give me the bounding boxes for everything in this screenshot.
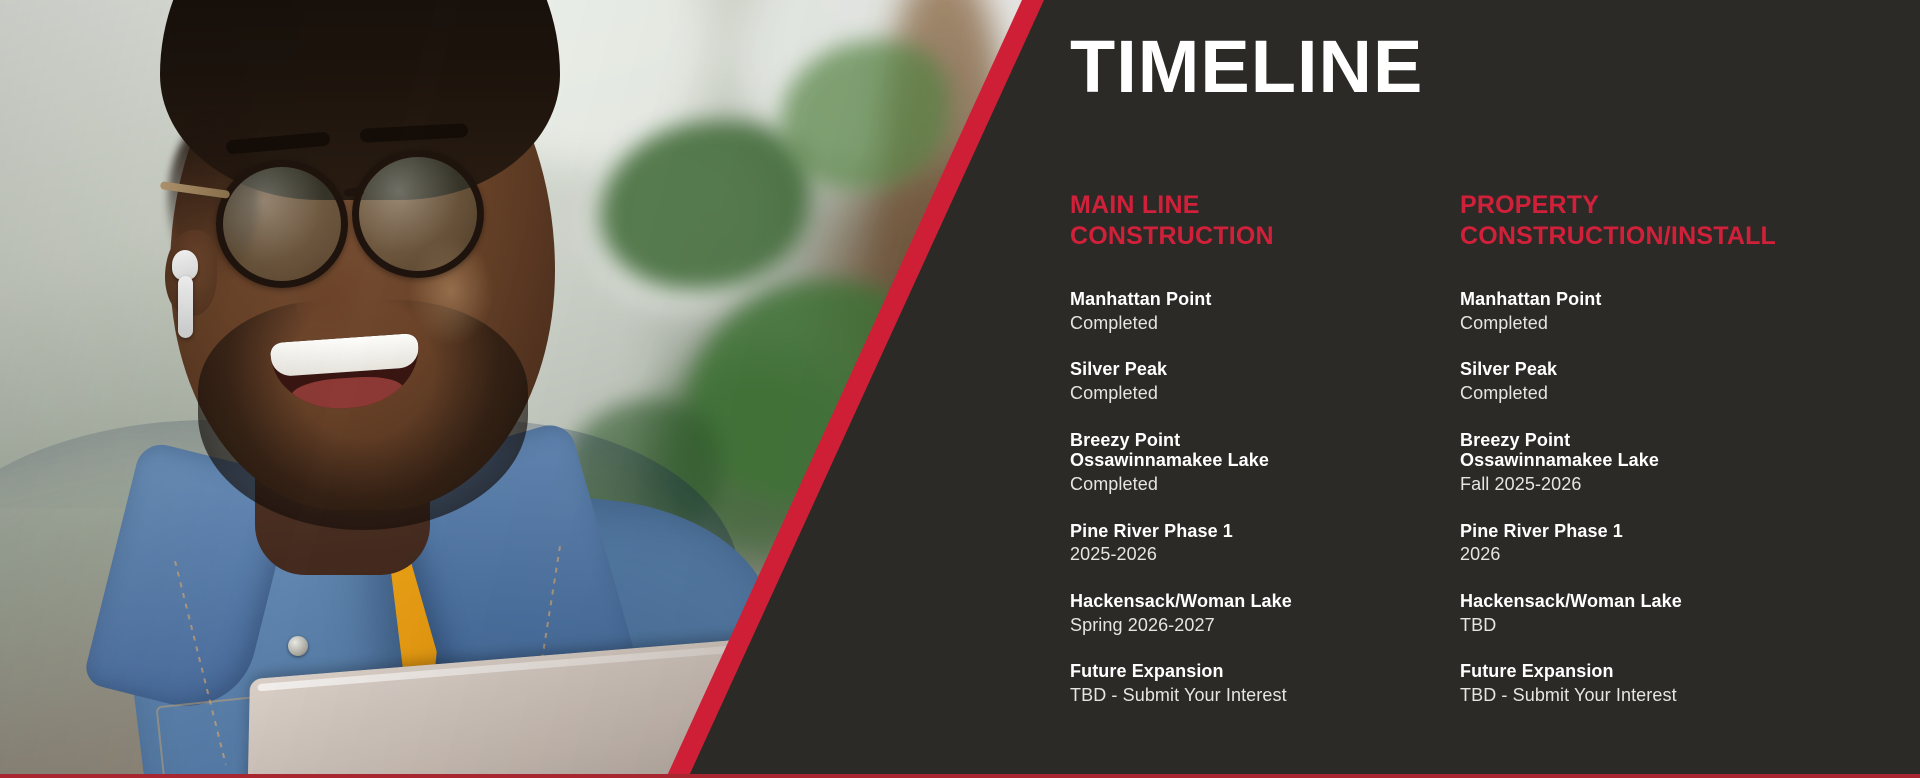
item-name: Future Expansion (1070, 661, 1460, 682)
column-property-construction-install: PROPERTY CONSTRUCTION/INSTALL Manhattan … (1460, 190, 1920, 706)
list-item: Future Expansion TBD - Submit Your Inter… (1460, 661, 1920, 706)
item-status: Spring 2026-2027 (1070, 615, 1460, 637)
list-item: Hackensack/Woman Lake TBD (1460, 591, 1920, 636)
eyeglasses-right-lens (352, 150, 484, 278)
column-heading: PROPERTY CONSTRUCTION/INSTALL (1460, 190, 1920, 251)
item-name: Hackensack/Woman Lake (1070, 591, 1460, 612)
item-status: TBD - Submit Your Interest (1460, 685, 1920, 707)
timeline-columns: MAIN LINE CONSTRUCTION Manhattan Point C… (1070, 190, 1920, 706)
item-name: Future Expansion (1460, 661, 1920, 682)
eyeglasses-left-lens (216, 160, 348, 288)
item-status: TBD - Submit Your Interest (1070, 685, 1460, 707)
column-main-line-construction: MAIN LINE CONSTRUCTION Manhattan Point C… (1070, 190, 1460, 706)
list-item: Pine River Phase 1 2025-2026 (1070, 521, 1460, 566)
item-name: Breezy Point Ossawinnamakee Lake (1460, 430, 1920, 471)
item-name: Silver Peak (1460, 359, 1920, 380)
item-status: Completed (1070, 313, 1460, 335)
earbud-stem (178, 276, 193, 338)
timeline-content: TIMELINE MAIN LINE CONSTRUCTION Manhatta… (1070, 0, 1920, 778)
bottom-accent-rule (0, 774, 1920, 778)
item-name: Breezy Point Ossawinnamakee Lake (1070, 430, 1460, 471)
timeline-banner: TIMELINE MAIN LINE CONSTRUCTION Manhatta… (0, 0, 1920, 778)
list-item: Silver Peak Completed (1460, 359, 1920, 404)
item-status: Completed (1460, 313, 1920, 335)
item-name: Manhattan Point (1070, 289, 1460, 310)
list-item: Future Expansion TBD - Submit Your Inter… (1070, 661, 1460, 706)
item-name: Manhattan Point (1460, 289, 1920, 310)
item-status: 2025-2026 (1070, 544, 1460, 566)
list-item: Manhattan Point Completed (1070, 289, 1460, 334)
list-item: Silver Peak Completed (1070, 359, 1460, 404)
item-status: TBD (1460, 615, 1920, 637)
column-heading: MAIN LINE CONSTRUCTION (1070, 190, 1460, 251)
list-item: Breezy Point Ossawinnamakee Lake Complet… (1070, 430, 1460, 496)
item-name: Hackensack/Woman Lake (1460, 591, 1920, 612)
list-item: Breezy Point Ossawinnamakee Lake Fall 20… (1460, 430, 1920, 496)
item-name: Silver Peak (1070, 359, 1460, 380)
item-status: Completed (1460, 383, 1920, 405)
item-name: Pine River Phase 1 (1460, 521, 1920, 542)
page-title: TIMELINE (1070, 30, 1423, 104)
item-status: Completed (1070, 474, 1460, 496)
item-status: 2026 (1460, 544, 1920, 566)
item-name: Pine River Phase 1 (1070, 521, 1460, 542)
list-item: Manhattan Point Completed (1460, 289, 1920, 334)
list-item: Pine River Phase 1 2026 (1460, 521, 1920, 566)
list-item: Hackensack/Woman Lake Spring 2026-2027 (1070, 591, 1460, 636)
jacket-button (288, 636, 308, 656)
item-status: Completed (1070, 383, 1460, 405)
beard (198, 300, 528, 530)
item-status: Fall 2025-2026 (1460, 474, 1920, 496)
